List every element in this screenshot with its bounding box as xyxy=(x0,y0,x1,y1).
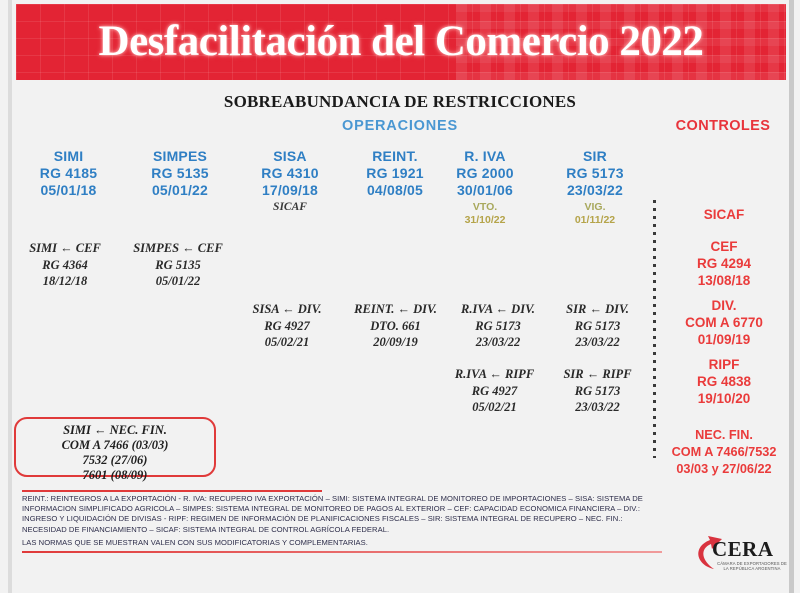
control-date: 19/10/20 xyxy=(648,390,800,407)
column-reg: RG 5135 xyxy=(125,165,235,182)
node-date: 23/03/22 xyxy=(545,399,650,416)
control-name: SICAF xyxy=(648,206,800,223)
control-sicaf: SICAF xyxy=(648,206,800,223)
section-subtitle: SOBREABUNDANCIA DE RESTRICCIONES xyxy=(0,92,800,112)
node-title: SISA ← DIV. xyxy=(232,301,342,318)
node-title: R.IVA ← DIV. xyxy=(443,301,553,318)
column-status-riva: VTO. 31/10/22 xyxy=(435,201,535,227)
slide-canvas: Desfacilitación del Comercio 2022 SOBREA… xyxy=(0,0,800,593)
node-title: R.IVA ← RIPF xyxy=(437,366,552,383)
control-reg: COM A 6770 xyxy=(648,314,800,331)
control-div: DIV. COM A 6770 01/09/19 xyxy=(648,297,800,348)
node-reint-div: REINT. ← DIV. DTO. 661 20/09/19 xyxy=(338,301,453,351)
column-name: SIMI xyxy=(16,148,121,165)
callout-line-4: 7601 (08/09) xyxy=(16,468,214,483)
node-riva-ripf: R.IVA ← RIPF RG 4927 05/02/21 xyxy=(437,366,552,416)
title-banner: Desfacilitación del Comercio 2022 xyxy=(16,4,786,80)
status-date: 01/11/22 xyxy=(575,214,615,226)
node-sir-ripf: SIR ← RIPF RG 5173 23/03/22 xyxy=(545,366,650,416)
node-title: SIMI ← CEF xyxy=(10,240,120,257)
control-reg: RG 4838 xyxy=(648,373,800,390)
footer-legend: REINT.: REINTEGROS A LA EXPORTACIÓN - R.… xyxy=(22,494,784,548)
node-date: 23/03/22 xyxy=(443,334,553,351)
column-reg: RG 4185 xyxy=(16,165,121,182)
column-reg: RG 2000 xyxy=(435,165,535,182)
control-reg: RG 4294 xyxy=(648,255,800,272)
node-sisa-div: SISA ← DIV. RG 4927 05/02/21 xyxy=(232,301,342,351)
node-date: 18/12/18 xyxy=(10,273,120,290)
column-date: 05/01/22 xyxy=(125,182,235,199)
operaciones-label: OPERACIONES xyxy=(180,118,620,134)
node-riva-div: R.IVA ← DIV. RG 5173 23/03/22 xyxy=(443,301,553,351)
node-reg: RG 5173 xyxy=(545,383,650,400)
column-name: SIR xyxy=(545,148,645,165)
control-name: NEC. FIN. xyxy=(648,427,800,444)
column-sisa: SISA RG 4310 17/09/18 SICAF xyxy=(240,148,340,213)
node-reg: RG 4927 xyxy=(232,318,342,335)
control-cef: CEF RG 4294 13/08/18 xyxy=(648,238,800,289)
node-title: SIR ← RIPF xyxy=(545,366,650,383)
control-date: 13/08/18 xyxy=(648,272,800,289)
node-title: SIR ← DIV. xyxy=(545,301,650,318)
footer-line-3: INGRESO Y LIQUIDACIÓN DE DIVISAS - RIPF:… xyxy=(22,514,784,524)
node-sir-div: SIR ← DIV. RG 5173 23/03/22 xyxy=(545,301,650,351)
footer-line-5: LAS NORMAS QUE SE MUESTRAN VALEN CON SUS… xyxy=(22,538,784,548)
node-reg: RG 5173 xyxy=(443,318,553,335)
status-label: VIG. xyxy=(584,201,605,213)
column-name: SISA xyxy=(240,148,340,165)
column-simi: SIMI RG 4185 05/01/18 xyxy=(16,148,121,199)
callout-line-2: COM A 7466 (03/03) xyxy=(16,438,214,453)
control-name: CEF xyxy=(648,238,800,255)
column-reg: RG 4310 xyxy=(240,165,340,182)
column-reg: RG 5173 xyxy=(545,165,645,182)
callout-box-simi-necfin: SIMI ← NEC. FIN. COM A 7466 (03/03) 7532… xyxy=(14,417,216,477)
column-reg: RG 1921 xyxy=(345,165,445,182)
node-reg: RG 4927 xyxy=(437,383,552,400)
column-status-sir: VIG. 01/11/22 xyxy=(545,201,645,227)
column-name: SIMPES xyxy=(125,148,235,165)
node-simpes-cef: SIMPES ← CEF RG 5135 05/01/22 xyxy=(118,240,238,290)
footer-line-2: INFORMACION SIMPLIFICADO AGRICOLA – SIMP… xyxy=(22,504,784,514)
footer-line-4: NECESIDAD DE FINANCIAMIENTO – SICAF: SIS… xyxy=(22,525,784,535)
column-name: REINT. xyxy=(345,148,445,165)
node-date: 05/02/21 xyxy=(232,334,342,351)
node-simi-cef: SIMI ← CEF RG 4364 18/12/18 xyxy=(10,240,120,290)
column-date: 05/01/18 xyxy=(16,182,121,199)
status-date: 31/10/22 xyxy=(465,214,506,226)
node-reg: RG 5173 xyxy=(545,318,650,335)
node-title: SIMPES ← CEF xyxy=(118,240,238,257)
cera-wordmark: CERA xyxy=(712,537,774,562)
control-nec-fin: NEC. FIN. COM A 7466/7532 03/03 y 27/06/… xyxy=(648,427,800,478)
column-reint: REINT. RG 1921 04/08/05 xyxy=(345,148,445,199)
footer-rule xyxy=(22,551,662,553)
cera-logo: CERA CÁMARA DE EXPORTADORES DE LA REPÚBL… xyxy=(684,531,792,579)
footer-line-1: REINT.: REINTEGROS A LA EXPORTACIÓN - R.… xyxy=(22,494,784,504)
node-reg: DTO. 661 xyxy=(338,318,453,335)
control-ripf: RIPF RG 4838 19/10/20 xyxy=(648,356,800,407)
node-reg: RG 5135 xyxy=(118,257,238,274)
control-name: RIPF xyxy=(648,356,800,373)
footer-separator xyxy=(22,490,322,492)
column-riva: R. IVA RG 2000 30/01/06 VTO. 31/10/22 xyxy=(435,148,535,227)
column-simpes: SIMPES RG 5135 05/01/22 xyxy=(125,148,235,199)
control-date: 01/09/19 xyxy=(648,331,800,348)
column-note-sicaf: SICAF xyxy=(240,201,340,213)
control-name: DIV. xyxy=(648,297,800,314)
cera-tagline: CÁMARA DE EXPORTADORES DE LA REPÚBLICA A… xyxy=(714,561,790,572)
column-date: 30/01/06 xyxy=(435,182,535,199)
node-date: 20/09/19 xyxy=(338,334,453,351)
node-date: 05/02/21 xyxy=(437,399,552,416)
status-label: VTO. xyxy=(473,201,497,213)
controles-label: CONTROLES xyxy=(648,118,798,134)
callout-line-3: 7532 (27/06) xyxy=(16,453,214,468)
column-name: R. IVA xyxy=(435,148,535,165)
control-reg: COM A 7466/7532 xyxy=(648,444,800,461)
left-edge-band xyxy=(8,0,12,593)
callout-box-content: SIMI ← NEC. FIN. COM A 7466 (03/03) 7532… xyxy=(16,419,214,483)
column-date: 04/08/05 xyxy=(345,182,445,199)
node-reg: RG 4364 xyxy=(10,257,120,274)
node-date: 05/01/22 xyxy=(118,273,238,290)
control-date: 03/03 y 27/06/22 xyxy=(648,461,800,478)
node-date: 23/03/22 xyxy=(545,334,650,351)
callout-line-1: SIMI ← NEC. FIN. xyxy=(16,423,214,438)
column-date: 23/03/22 xyxy=(545,182,645,199)
column-sir: SIR RG 5173 23/03/22 VIG. 01/11/22 xyxy=(545,148,645,227)
column-date: 17/09/18 xyxy=(240,182,340,199)
node-title: REINT. ← DIV. xyxy=(338,301,453,318)
page-title: Desfacilitación del Comercio 2022 xyxy=(16,4,786,80)
